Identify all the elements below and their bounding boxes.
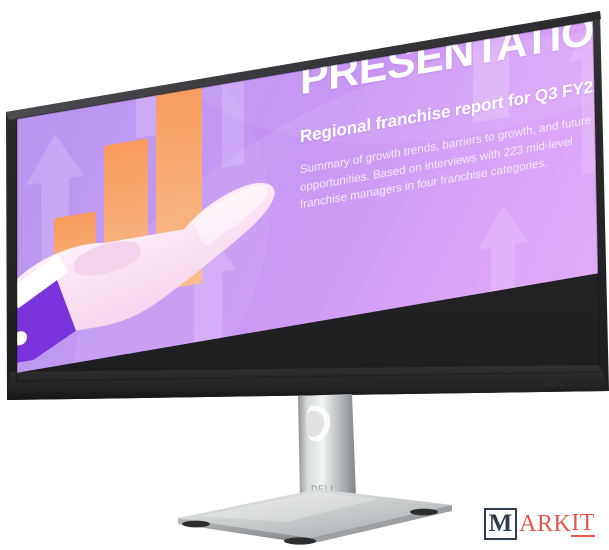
watermark-text-middle: ARK bbox=[519, 512, 571, 536]
base-foot-left bbox=[182, 521, 210, 528]
base-foot-right bbox=[410, 509, 438, 516]
markit-watermark: M ARK IT bbox=[484, 508, 595, 540]
watermark-boxed-letter: M bbox=[484, 508, 518, 540]
monitor-stand-neck bbox=[298, 394, 356, 498]
up-arrow-icon bbox=[476, 199, 530, 318]
dell-monitor: DELL bbox=[0, 0, 609, 550]
product-photo-stage: DELL bbox=[0, 0, 609, 550]
slide-text-block: BUSINESS PRESENTATION Regional franchise… bbox=[300, 0, 609, 214]
watermark-text-underlined: IT bbox=[571, 511, 595, 537]
presentation-slide: BUSINESS PRESENTATION Regional franchise… bbox=[10, 0, 609, 374]
hand-holding-bar-chart-illustration bbox=[10, 4, 302, 365]
base-foot-center bbox=[284, 537, 316, 544]
bezel-dell-logo: DELL bbox=[545, 382, 564, 388]
